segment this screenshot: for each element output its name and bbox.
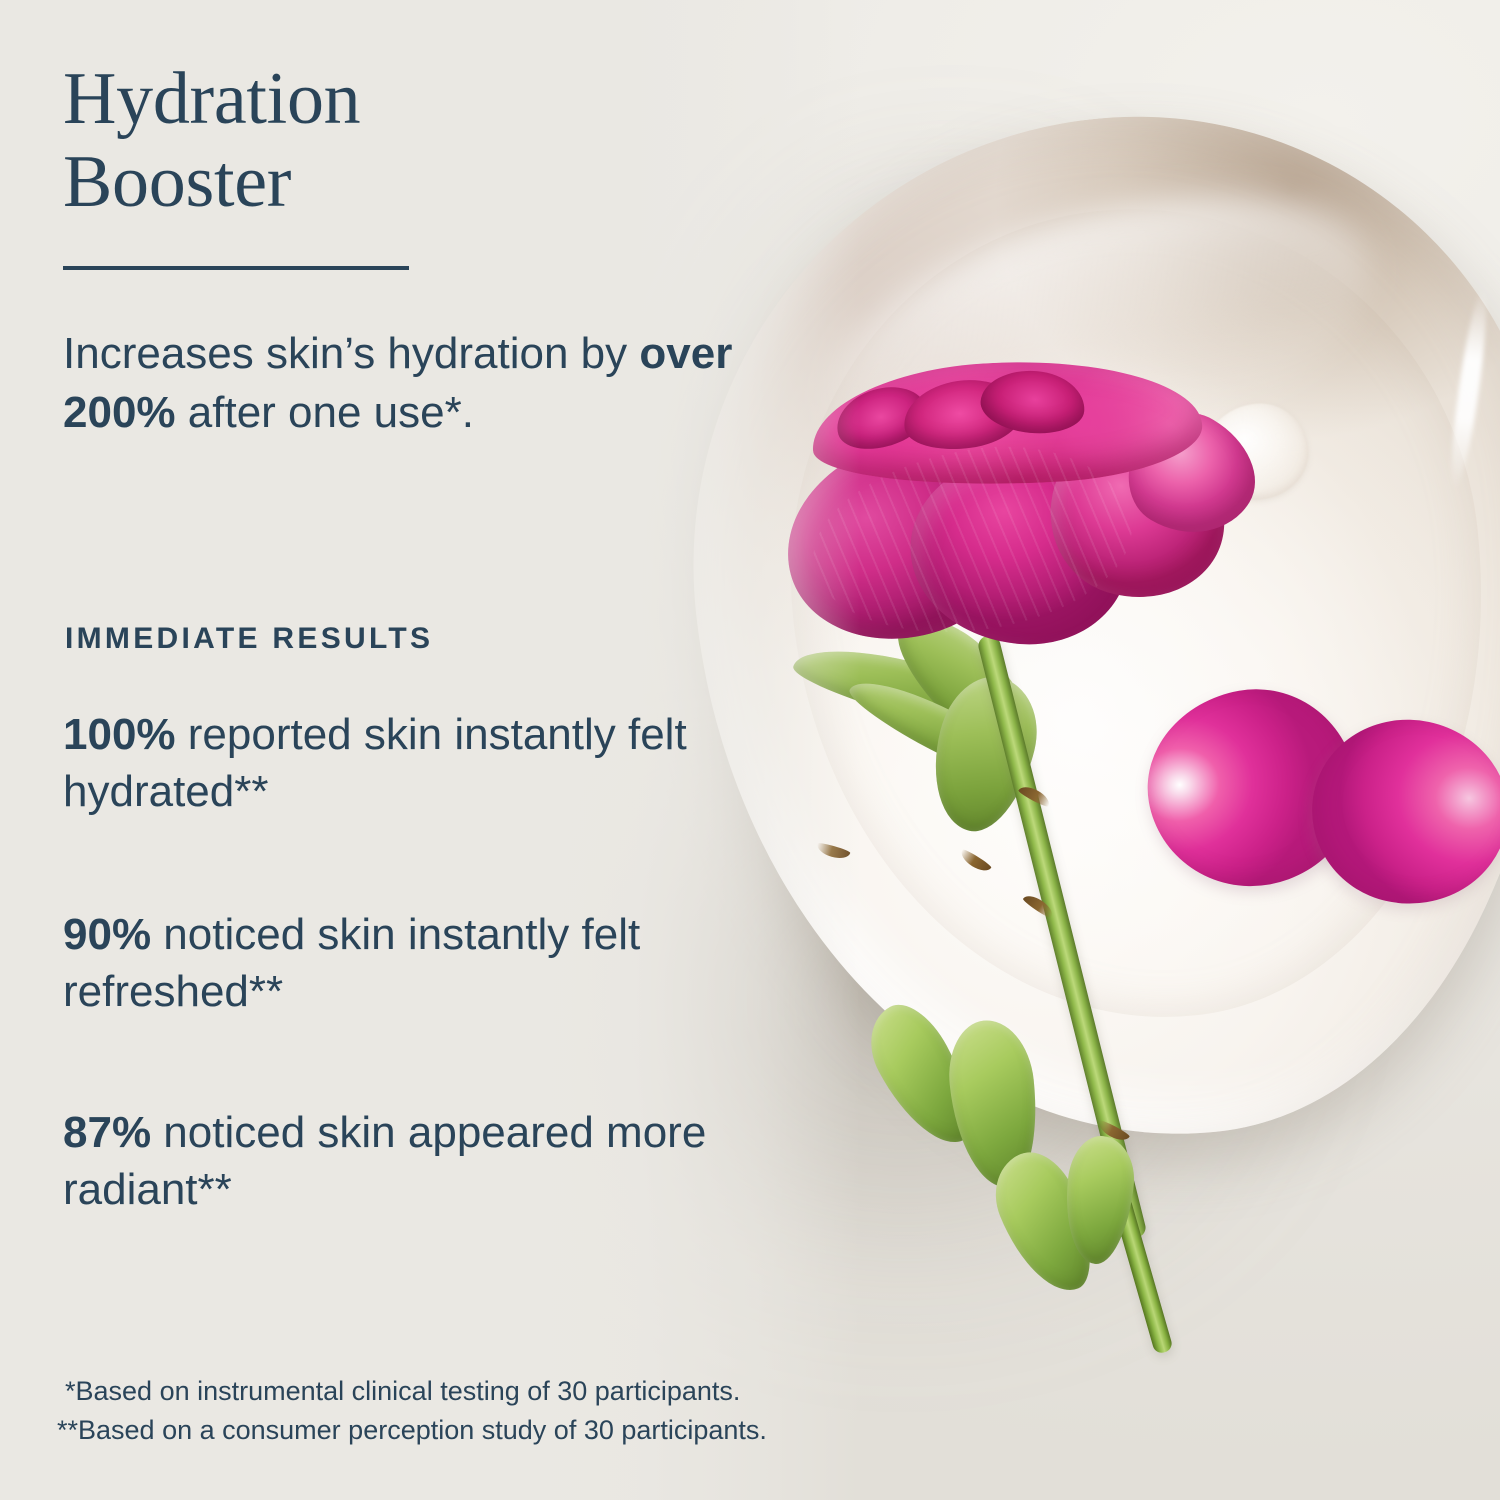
subheadline: Increases skin’s hydration by over 200% … [63, 325, 823, 443]
product-infographic: Hydration Booster Increases skin’s hydra… [0, 0, 1500, 1500]
footnote-double-asterisk: **Based on a consumer perception study o… [57, 1411, 767, 1450]
stat-item: 90% noticed skin instantly felt refreshe… [63, 906, 783, 1020]
stat-value: 100% [63, 710, 176, 759]
footnotes: *Based on instrumental clinical testing … [57, 1372, 767, 1450]
stat-value: 90% [63, 910, 151, 959]
section-eyebrow: IMMEDIATE RESULTS [65, 622, 433, 656]
stat-label: noticed skin appeared more radiant** [63, 1108, 706, 1214]
title-divider [63, 266, 409, 270]
title-line-2: Booster [63, 141, 623, 224]
stat-value: 87% [63, 1108, 151, 1157]
footnote-single-asterisk: *Based on instrumental clinical testing … [57, 1372, 767, 1411]
subheadline-before: Increases skin’s hydration by [63, 329, 639, 378]
text-content: Hydration Booster Increases skin’s hydra… [0, 0, 1500, 1500]
subheadline-after: after one use*. [176, 388, 474, 437]
page-title: Hydration Booster [63, 58, 623, 224]
stat-item: 100% reported skin instantly felt hydrat… [63, 706, 783, 820]
title-line-1: Hydration [63, 58, 623, 141]
stat-item: 87% noticed skin appeared more radiant** [63, 1104, 783, 1218]
